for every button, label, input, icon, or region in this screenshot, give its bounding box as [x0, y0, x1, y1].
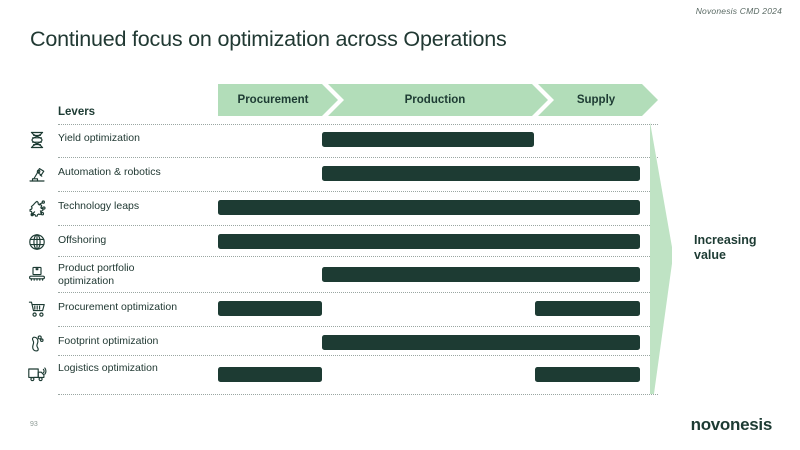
page-title: Continued focus on optimization across O… [30, 27, 507, 52]
lever-label: Yield optimization [58, 132, 140, 145]
levers-column-header: Levers [58, 106, 95, 118]
table-row[interactable]: Offshoring [0, 229, 800, 253]
process-stage-label: Procurement [238, 94, 309, 106]
deck-eyebrow: Novonesis CMD 2024 [696, 6, 782, 16]
lever-label: Technology leaps [58, 200, 139, 213]
coverage-bar [218, 234, 640, 249]
dna-helix-icon [24, 130, 50, 150]
coverage-bar [218, 301, 322, 316]
coverage-bar [322, 132, 534, 147]
footprint-icon [24, 333, 50, 353]
coverage-bar [322, 267, 640, 282]
coverage-bar [535, 367, 640, 382]
row-separator [58, 256, 658, 257]
row-separator [58, 124, 658, 125]
brand-logo: novonesis [691, 415, 772, 435]
coverage-bar [322, 166, 640, 181]
row-separator [58, 326, 658, 327]
slide-canvas: Novonesis CMD 2024 Continued focus on op… [0, 0, 800, 450]
row-separator [58, 292, 658, 293]
row-separator [58, 191, 658, 192]
conveyor-box-icon [24, 264, 50, 284]
row-separator [58, 394, 658, 395]
coverage-bar [218, 200, 640, 215]
lever-label: Automation & robotics [58, 166, 161, 179]
process-band: Procurement Production Supply [218, 84, 658, 116]
row-separator [58, 225, 658, 226]
coverage-bar [322, 335, 640, 350]
coverage-bar [535, 301, 640, 316]
increasing-value-line2: value [694, 248, 757, 263]
table-row[interactable]: Product portfolio optimization [0, 258, 800, 290]
table-row[interactable]: Technology leaps [0, 195, 800, 219]
row-separator [58, 157, 658, 158]
delivery-truck-icon [24, 364, 50, 384]
process-stage-procurement[interactable]: Procurement [218, 84, 338, 116]
increasing-value-line1: Increasing [694, 233, 757, 248]
lever-label: Logistics optimization [58, 362, 163, 375]
lever-label: Product portfolio optimization [58, 262, 163, 287]
table-row[interactable]: Logistics optimization [0, 358, 800, 390]
process-stage-label: Production [405, 94, 466, 106]
globe-icon [24, 232, 50, 252]
lever-label: Procurement optimization [58, 301, 177, 314]
technology-network-icon [24, 198, 50, 218]
lever-label: Offshoring [58, 234, 106, 247]
lever-label: Footprint optimization [58, 335, 158, 348]
table-row[interactable]: Yield optimization [0, 127, 800, 151]
process-stage-supply[interactable]: Supply [538, 84, 658, 116]
process-stage-production[interactable]: Production [328, 84, 548, 116]
page-number: 93 [30, 421, 38, 428]
increasing-value-label: Increasing value [694, 233, 757, 263]
shopping-cart-icon [24, 299, 50, 319]
table-row[interactable]: Automation & robotics [0, 161, 800, 185]
robot-arm-icon [24, 164, 50, 184]
process-stage-label: Supply [577, 94, 615, 106]
row-separator [58, 355, 658, 356]
table-row[interactable]: Procurement optimization [0, 296, 800, 320]
table-row[interactable]: Footprint optimization [0, 330, 800, 354]
coverage-bar [218, 367, 322, 382]
